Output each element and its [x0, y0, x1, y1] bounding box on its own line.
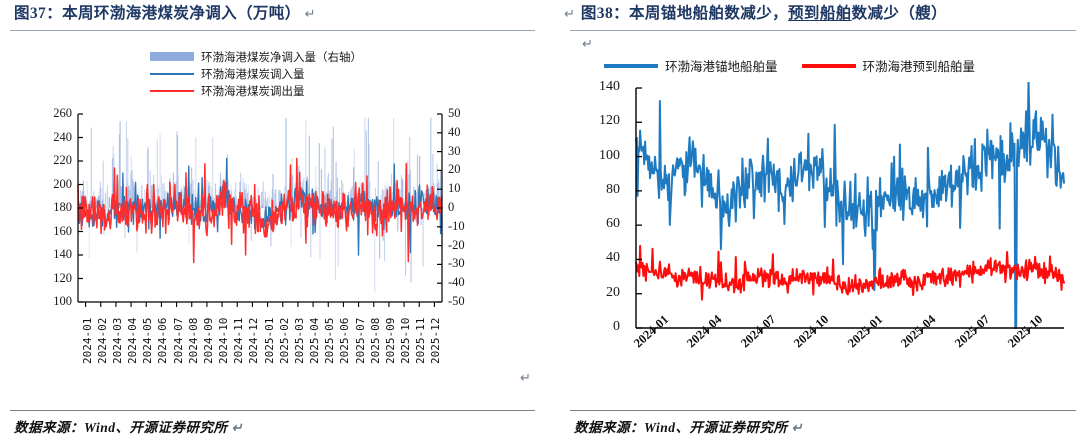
- figure-38-source-text: 数据来源：Wind、开源证券研究所: [574, 420, 788, 435]
- figure-38-legend: 环渤海港锚地船舶量 环渤海港预到船舶量: [604, 56, 975, 75]
- y-axis-left-tick: 260: [40, 106, 72, 121]
- legend-label-outflow: 环渤海港煤炭调出量: [201, 83, 305, 99]
- x-axis-tick: 2024-07: [172, 318, 185, 364]
- legend-swatch-line-blue-icon: [604, 64, 658, 68]
- return-mark-icon-right-lead: ↵: [564, 4, 575, 24]
- x-axis-tick: 2024-08: [187, 318, 200, 364]
- y-axis-tick: 60: [584, 216, 620, 232]
- figure-37-source: 数据来源：Wind、开源证券研究所↵: [14, 416, 243, 438]
- legend-swatch-bar-icon: [150, 52, 194, 61]
- x-axis-tick: 2025-10: [399, 318, 412, 364]
- legend-label-net-inflow: 环渤海港煤炭净调入量（右轴）: [201, 49, 362, 65]
- y-axis-tick: 140: [584, 79, 620, 95]
- x-axis-tick: 2024-10: [217, 318, 230, 364]
- figure-37-title: 图37：本周环渤海港煤炭净调入（万吨）: [14, 4, 301, 24]
- figure-38-title-post: 数减少（艘）: [852, 5, 947, 22]
- report-figure-page: 图37：本周环渤海港煤炭净调入（万吨） ↵ 环渤海港煤炭净调入量（右轴） 环渤海…: [0, 0, 1080, 440]
- y-axis-left-tick: 140: [40, 247, 72, 262]
- y-axis-right-tick: -10: [448, 219, 465, 234]
- y-axis-right-tick: 0: [448, 200, 454, 215]
- legend-item-outflow: 环渤海港煤炭调出量: [150, 82, 362, 99]
- return-mark-icon-left-body: ↵: [520, 368, 531, 388]
- y-axis-right-tick: -50: [448, 294, 465, 309]
- x-axis-tick: 2025-08: [369, 318, 382, 364]
- y-axis-left-tick: 100: [40, 294, 72, 309]
- return-mark-icon: ↵: [305, 4, 316, 24]
- figure-37-source-text: 数据来源：Wind、开源证券研究所: [14, 420, 228, 435]
- x-axis-tick: 2024-04: [126, 318, 139, 364]
- y-axis-left-tick: 240: [40, 130, 72, 145]
- x-axis-tick: 2024-06: [156, 318, 169, 364]
- return-mark-icon-right-body: ↵: [582, 34, 593, 54]
- x-axis-tick: 2024-03: [111, 318, 124, 364]
- x-axis-tick: 2025-12: [429, 318, 442, 364]
- legend-item-net-inflow: 环渤海港煤炭净调入量（右轴）: [150, 48, 362, 65]
- x-axis-tick: 2024-11: [232, 318, 245, 364]
- x-axis-tick: 2025-09: [384, 318, 397, 364]
- legend-swatch-line-red-icon: [802, 64, 856, 68]
- figure-37-footer-rule: [10, 410, 535, 411]
- x-axis-tick: 2024-01: [81, 318, 94, 364]
- x-axis-tick: 2024-05: [141, 318, 154, 364]
- y-axis-tick: 120: [584, 113, 620, 129]
- legend-swatch-line-blue-icon: [150, 73, 194, 75]
- return-mark-icon-left-foot: ↵: [232, 420, 243, 435]
- figure-38-source: 数据来源：Wind、开源证券研究所↵: [574, 416, 803, 438]
- x-axis-tick: 2025-02: [278, 318, 291, 364]
- x-axis-tick: 2025-01: [263, 318, 276, 364]
- figure-37-plot: [30, 110, 490, 310]
- x-axis-tick: 2024-02: [96, 318, 109, 364]
- y-axis-left-tick: 220: [40, 153, 72, 168]
- legend-label-inflow: 环渤海港煤炭调入量: [201, 66, 305, 82]
- figure-38-footer-rule: [570, 410, 1076, 411]
- y-axis-left-tick: 180: [40, 200, 72, 215]
- x-axis-tick: 2024-12: [247, 318, 260, 364]
- legend-label-expected: 环渤海港预到船舶量: [863, 56, 976, 75]
- figure-37-panel: 图37：本周环渤海港煤炭净调入（万吨） ↵ 环渤海港煤炭净调入量（右轴） 环渤海…: [0, 0, 556, 440]
- y-axis-right-tick: 10: [448, 181, 461, 196]
- figure-38-title-underlined: 预到船舶: [788, 5, 852, 22]
- y-axis-left-tick: 200: [40, 177, 72, 192]
- x-axis-tick: 2024-09: [202, 318, 215, 364]
- y-axis-left-tick: 160: [40, 224, 72, 239]
- y-axis-tick: 80: [584, 182, 620, 198]
- x-axis-tick: 2025-07: [354, 318, 367, 364]
- y-axis-tick: 100: [584, 148, 620, 164]
- y-axis-right-tick: 20: [448, 162, 461, 177]
- y-axis-right-tick: -30: [448, 256, 465, 271]
- figure-37-title-rule: [10, 30, 535, 31]
- y-axis-left-tick: 120: [40, 271, 72, 286]
- y-axis-right-tick: -40: [448, 275, 465, 290]
- figure-37-legend: 环渤海港煤炭净调入量（右轴） 环渤海港煤炭调入量 环渤海港煤炭调出量: [150, 48, 362, 99]
- y-axis-right-tick: 40: [448, 125, 461, 140]
- y-axis-right-tick: 30: [448, 144, 461, 159]
- x-axis-tick: 2025-03: [293, 318, 306, 364]
- figure-38-plot: [626, 82, 1070, 340]
- legend-swatch-line-red-icon: [150, 90, 194, 92]
- x-axis-tick: 2025-04: [308, 318, 321, 364]
- x-axis-tick: 2025-05: [323, 318, 336, 364]
- y-axis-tick: 0: [584, 319, 620, 335]
- return-mark-icon-right-foot: ↵: [792, 420, 803, 435]
- x-axis-tick: 2025-11: [414, 318, 427, 364]
- y-axis-tick: 20: [584, 285, 620, 301]
- figure-38-title: 图38：本周锚地船舶数减少，预到船舶数减少（艘）: [581, 4, 947, 24]
- figure-38-panel: ↵ 图38：本周锚地船舶数减少，预到船舶数减少（艘） ↵ 环渤海港锚地船舶量 环…: [556, 0, 1080, 440]
- x-axis-tick: 2025-06: [338, 318, 351, 364]
- legend-label-anchorage: 环渤海港锚地船舶量: [665, 56, 778, 75]
- y-axis-right-tick: 50: [448, 106, 461, 121]
- figure-38-title-pre: 图38：本周锚地船舶数减少，: [581, 5, 788, 22]
- y-axis-tick: 40: [584, 250, 620, 266]
- y-axis-right-tick: -20: [448, 238, 465, 253]
- legend-item-inflow: 环渤海港煤炭调入量: [150, 65, 362, 82]
- figure-38-title-rule: [570, 30, 1076, 31]
